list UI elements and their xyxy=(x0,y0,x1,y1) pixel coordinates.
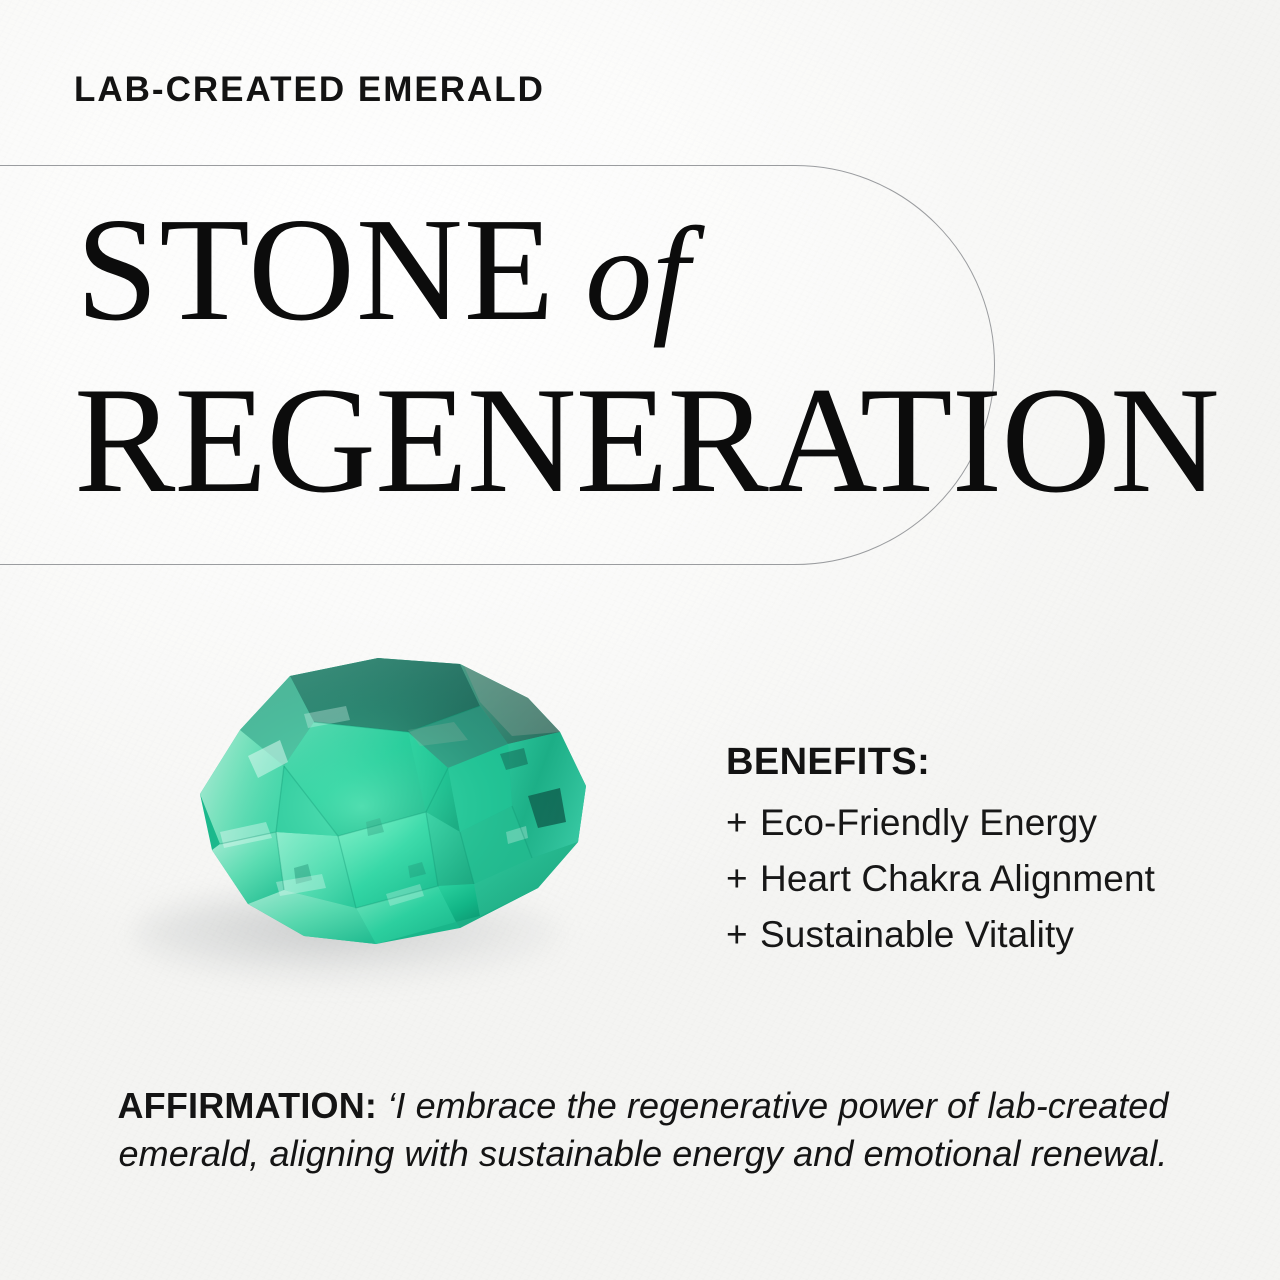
affirmation-label: AFFIRMATION: xyxy=(117,1085,387,1126)
headline-word-stone: STONE xyxy=(76,188,555,352)
gemstone-figure xyxy=(108,636,598,966)
plus-icon: + xyxy=(726,907,760,963)
benefit-item-3: +Sustainable Vitality xyxy=(726,907,1155,963)
emerald-crystal-icon xyxy=(108,636,598,966)
headline-word-of: of xyxy=(555,200,689,348)
benefit-label-3: Sustainable Vitality xyxy=(760,914,1074,955)
benefit-item-2: +Heart Chakra Alignment xyxy=(726,851,1155,907)
benefits-block: BENEFITS: +Eco-Friendly Energy +Heart Ch… xyxy=(726,742,1155,964)
benefits-heading: BENEFITS: xyxy=(726,742,1155,784)
plus-icon: + xyxy=(726,851,760,907)
headline-line-1: STONEof xyxy=(0,196,1280,344)
headline-line-2: REGENERATION xyxy=(0,364,1280,516)
benefit-label-2: Heart Chakra Alignment xyxy=(760,858,1155,899)
benefit-label-1: Eco-Friendly Energy xyxy=(760,802,1097,843)
plus-icon: + xyxy=(726,795,760,851)
emerald-crystal-poster: LAB-CREATED EMERALD STONEof REGENERATION xyxy=(0,0,1280,1280)
benefit-item-1: +Eco-Friendly Energy xyxy=(726,795,1155,851)
affirmation-block: AFFIRMATION: ‘I embrace the regenerative… xyxy=(60,1082,1226,1177)
page-title: STONEof REGENERATION xyxy=(0,196,1280,516)
category-eyebrow: LAB-CREATED EMERALD xyxy=(74,70,545,110)
